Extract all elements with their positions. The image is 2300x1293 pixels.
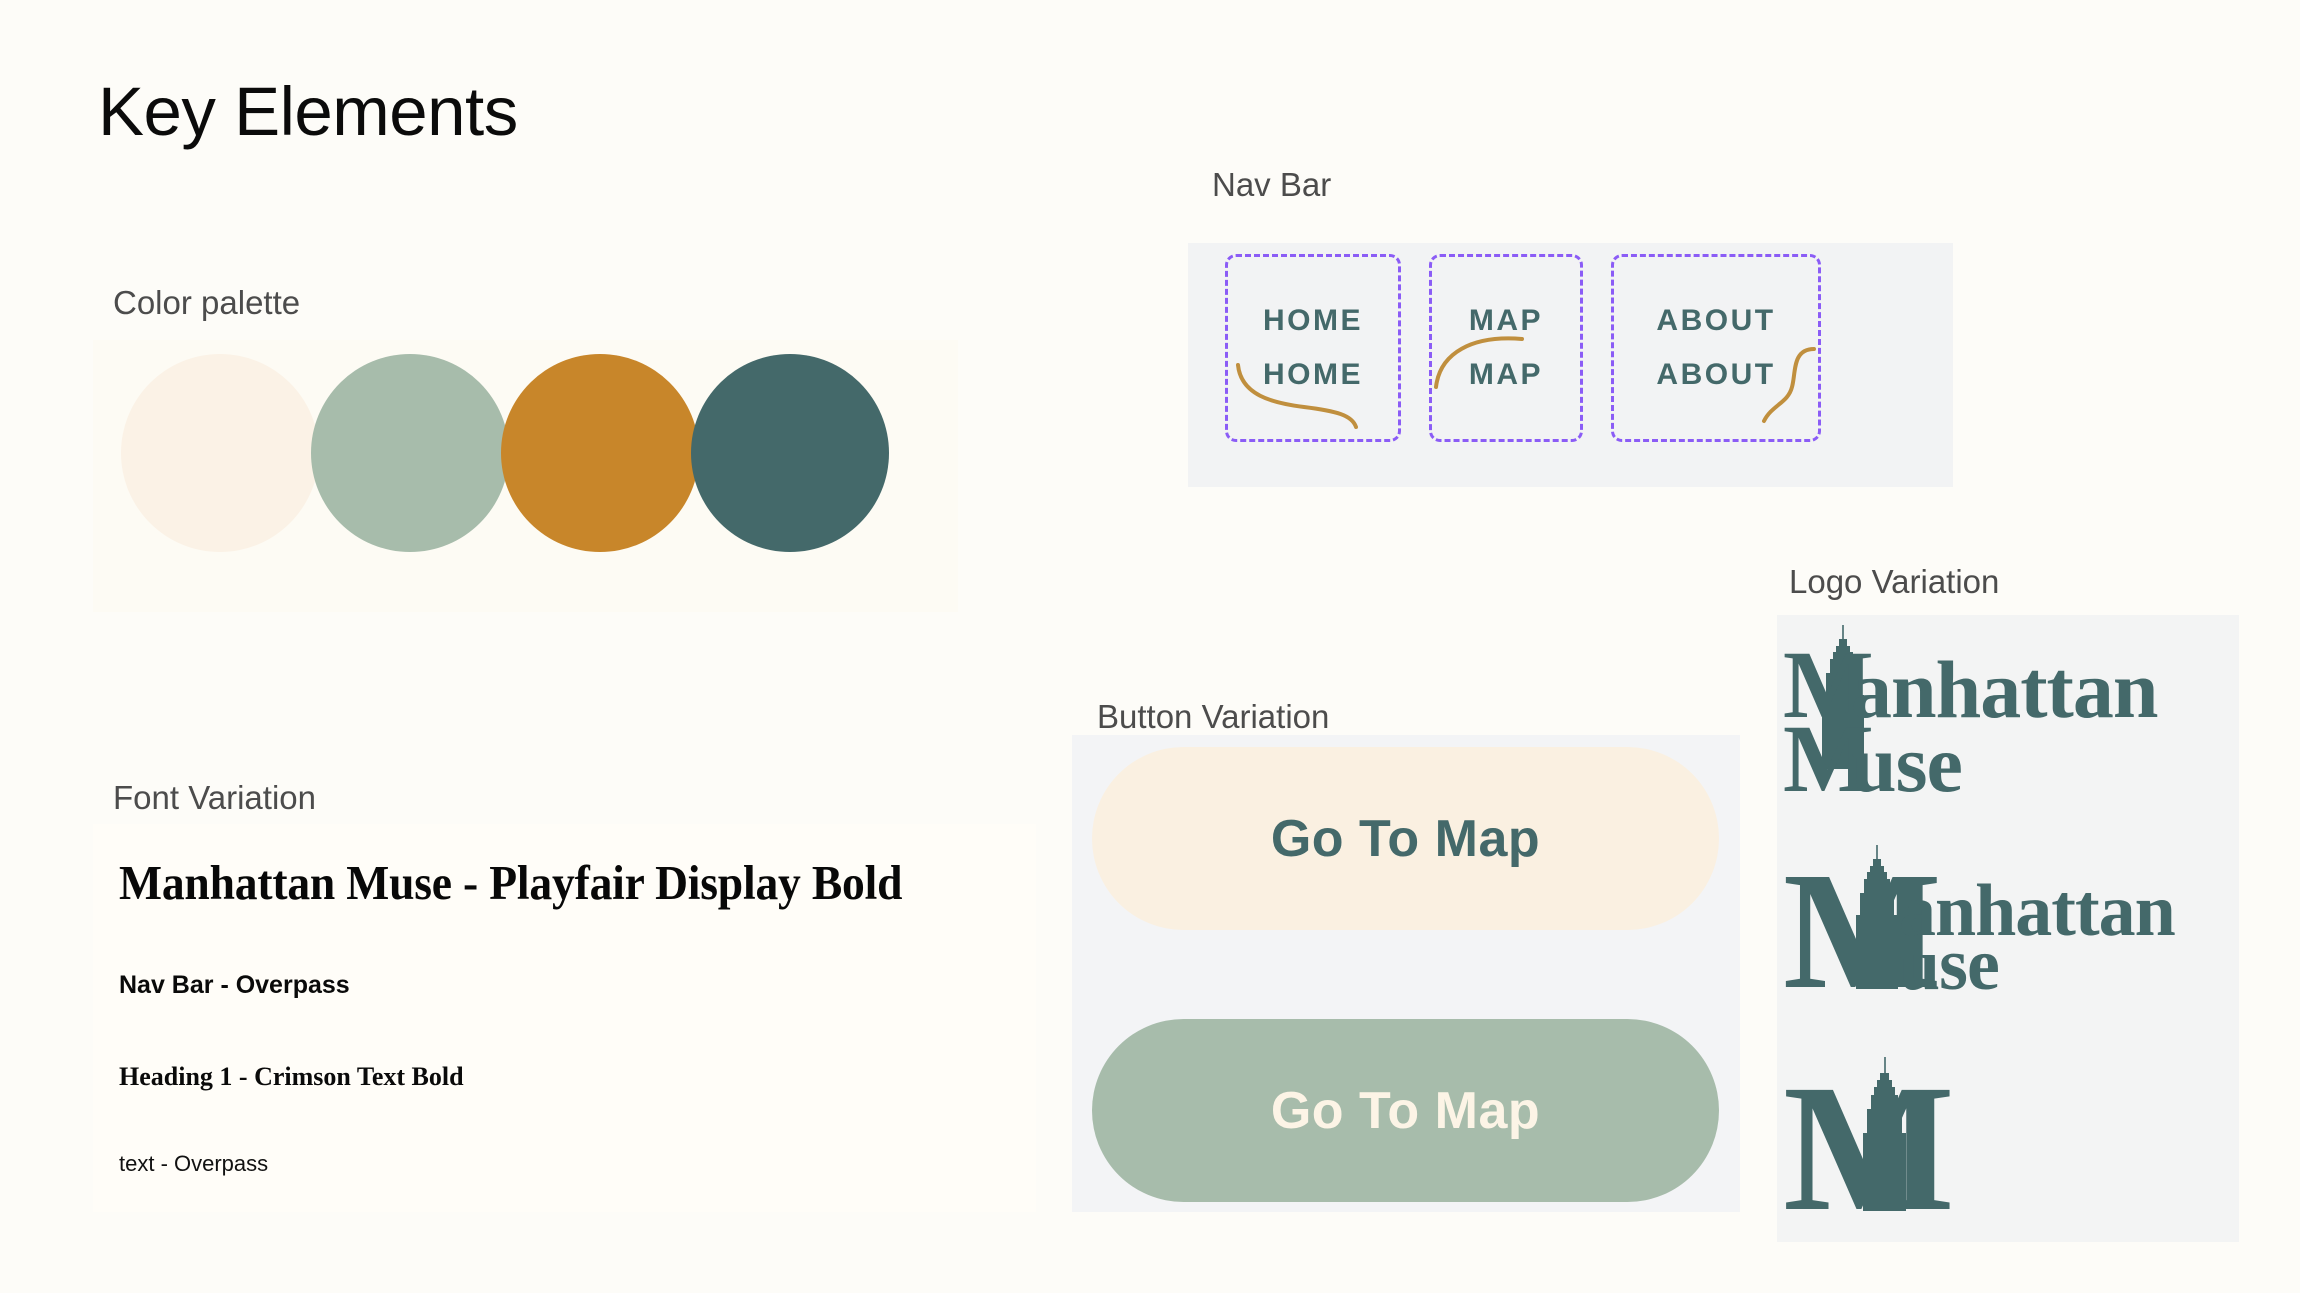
- manhattan-muse-monogram-icon: M: [1779, 1047, 2079, 1247]
- logo-variant-monogram[interactable]: M: [1779, 1047, 2079, 1252]
- nav-bar-label: Nav Bar: [1212, 168, 1331, 201]
- nav-bar-items: HOME HOME MAP MAP ABOUT ABOUT: [1225, 254, 1821, 442]
- color-swatch-sage[interactable]: [311, 354, 509, 552]
- font-sample-body: text - Overpass: [119, 1151, 268, 1177]
- nav-item-home-label-top: HOME: [1263, 306, 1363, 336]
- nav-item-about[interactable]: ABOUT ABOUT: [1611, 254, 1821, 442]
- font-sample-display: Manhattan Muse - Playfair Display Bold: [119, 854, 902, 911]
- color-palette-label: Color palette: [113, 286, 300, 319]
- logo-variant-stacked-compact[interactable]: M anhattan use: [1779, 837, 2229, 1042]
- color-swatch-row: [121, 354, 881, 552]
- color-swatch-teal[interactable]: [691, 354, 889, 552]
- go-to-map-button-secondary[interactable]: Go To Map: [1092, 1019, 1719, 1202]
- color-swatch-ochre[interactable]: [501, 354, 699, 552]
- nav-item-home-label-bottom: HOME: [1263, 360, 1363, 390]
- font-variation-panel: Manhattan Muse - Playfair Display Bold N…: [93, 824, 1036, 1212]
- nav-item-about-label-top: ABOUT: [1656, 306, 1775, 336]
- logo-variation-label: Logo Variation: [1789, 565, 1999, 598]
- logo-variation-panel: M anhattan M use M anhattan use M: [1777, 615, 2239, 1242]
- nav-item-map-label-bottom: MAP: [1469, 360, 1543, 390]
- font-variation-label: Font Variation: [113, 781, 316, 814]
- nav-item-home[interactable]: HOME HOME: [1225, 254, 1401, 442]
- go-to-map-button-primary[interactable]: Go To Map: [1092, 747, 1719, 930]
- page-title: Key Elements: [98, 77, 518, 146]
- button-variation-label: Button Variation: [1097, 700, 1329, 733]
- nav-item-map[interactable]: MAP MAP: [1429, 254, 1583, 442]
- logo-v1-line2: use: [1851, 718, 1962, 809]
- button-variation-panel: Go To Map Go To Map: [1072, 735, 1740, 1212]
- font-sample-navbar: Nav Bar - Overpass: [119, 971, 350, 1000]
- manhattan-muse-logo-icon: M anhattan M use: [1779, 619, 2229, 829]
- manhattan-muse-logo-compact-icon: M anhattan use: [1779, 837, 2229, 1037]
- nav-bar-panel: HOME HOME MAP MAP ABOUT ABOUT: [1188, 243, 1953, 487]
- nav-item-map-label-top: MAP: [1469, 306, 1543, 336]
- nav-item-about-label-bottom: ABOUT: [1656, 360, 1775, 390]
- color-palette-panel: [93, 340, 958, 612]
- logo-v2-line2: use: [1899, 924, 1999, 1006]
- font-sample-heading: Heading 1 - Crimson Text Bold: [119, 1062, 464, 1092]
- color-swatch-cream[interactable]: [121, 354, 319, 552]
- logo-variant-stacked-full[interactable]: M anhattan M use: [1779, 619, 2229, 834]
